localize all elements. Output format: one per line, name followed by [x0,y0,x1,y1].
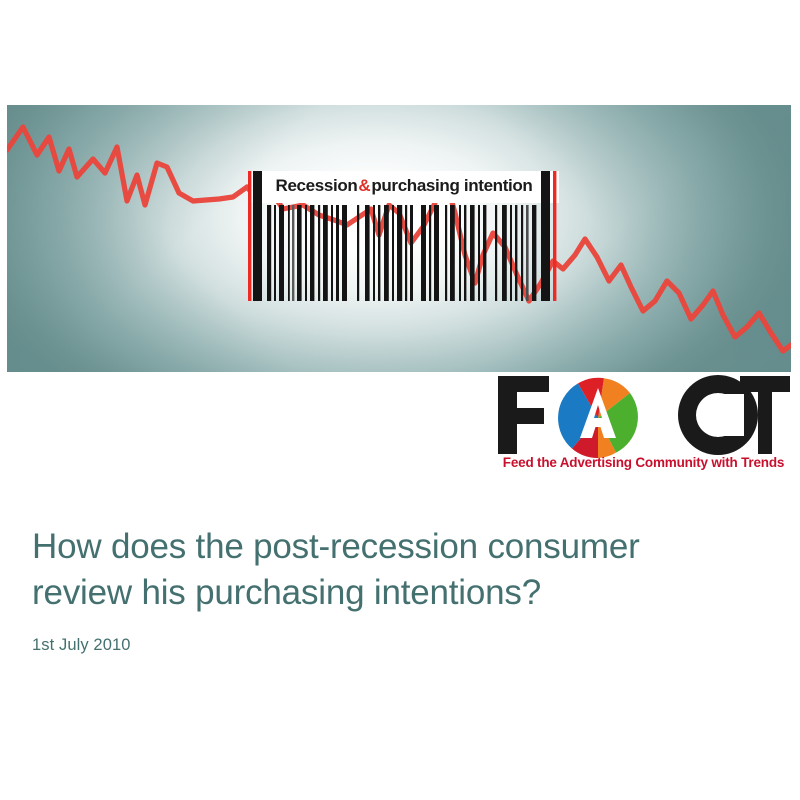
barcode-label-ampersand: & [357,177,371,194]
logo-letter-f-icon [498,376,549,454]
slide-date: 1st July 2010 [32,637,768,654]
fact-logo: Feed the Advertising Community with Tren… [492,372,792,476]
fact-wordmark-icon [492,372,792,458]
logo-letter-a-icon [558,378,638,458]
barcode-graphic: Recession & purchasing intention [243,171,565,301]
title-block: How does the post-recession consumer rev… [32,524,768,654]
barcode-label-part-1: Recession [276,177,358,194]
page-title: How does the post-recession consumer rev… [32,524,768,615]
barcode-label: Recession & purchasing intention [265,173,543,197]
presentation-slide: Recession & purchasing intention [0,0,800,800]
recession-banner: Recession & purchasing intention [7,105,791,372]
barcode-label-part-2: purchasing intention [371,177,532,194]
fact-tagline: Feed the Advertising Community with Tren… [495,456,792,470]
